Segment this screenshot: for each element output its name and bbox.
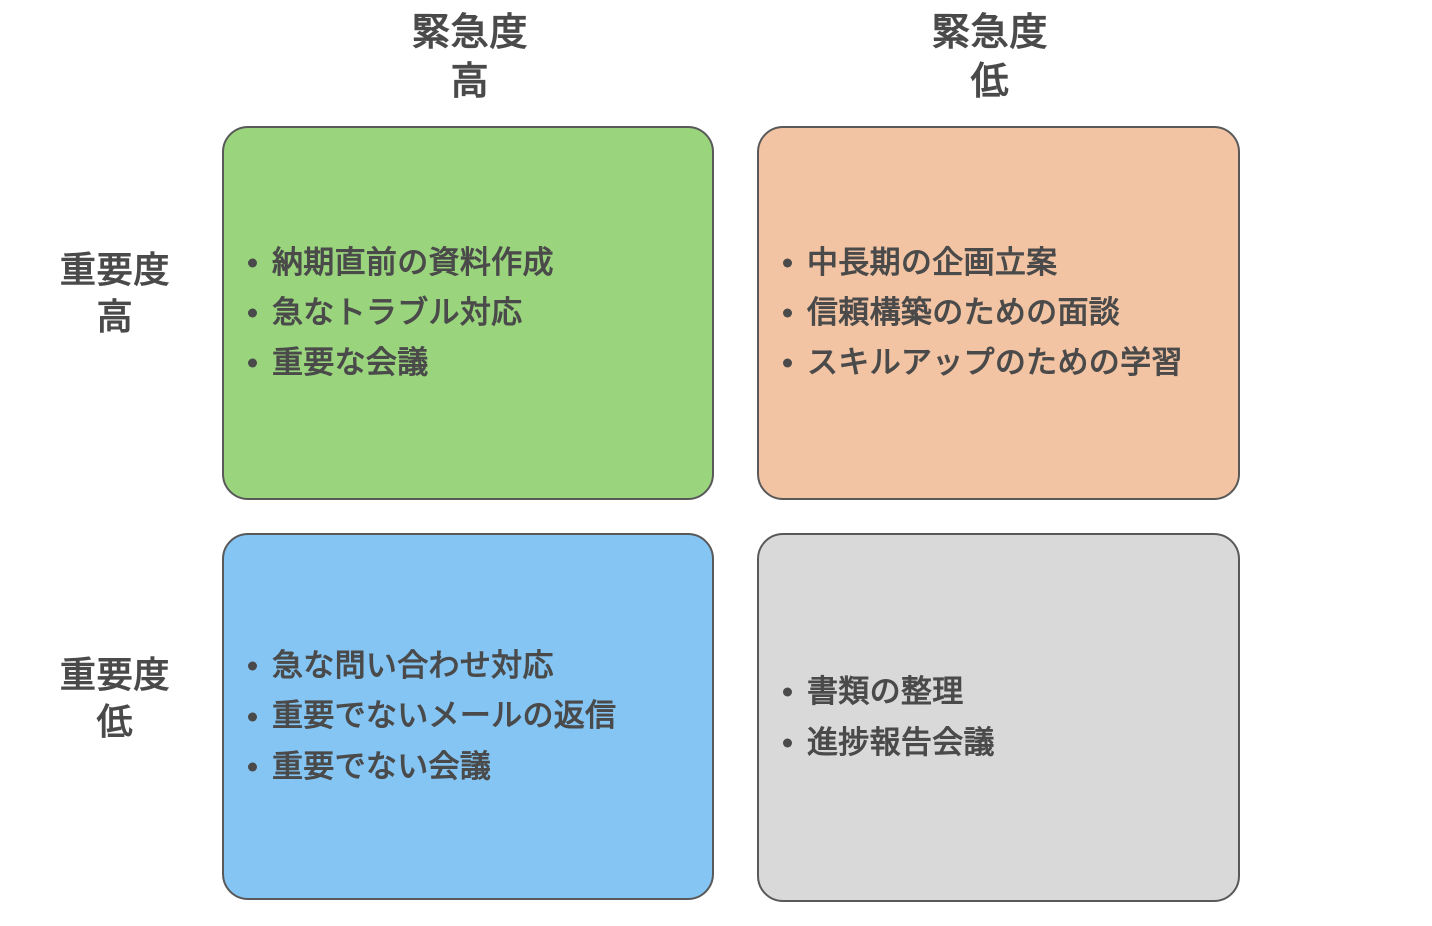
task-list-noturgent-notimportant: 書類の整理 進捗報告会議 (777, 667, 1224, 767)
quadrant-noturgent-important: 中長期の企画立案 信頼構築のための面談 スキルアップのための学習 (757, 126, 1240, 500)
list-item: 重要でない会議 (242, 742, 698, 792)
column-header-urgency-low-level: 低 (840, 57, 1140, 106)
column-header-urgency-high: 緊急度 高 (320, 8, 620, 105)
column-header-urgency-high-level: 高 (320, 57, 620, 106)
list-item: スキルアップのための学習 (777, 338, 1224, 388)
row-label-importance-high: 重要度 高 (20, 248, 210, 342)
list-item: 書類の整理 (777, 667, 1224, 717)
row-label-importance-low: 重要度 低 (20, 653, 210, 747)
column-header-urgency-low-name: 緊急度 (840, 8, 1140, 57)
task-list-urgent-notimportant: 急な問い合わせ対応 重要でないメールの返信 重要でない会議 (242, 641, 698, 792)
column-header-urgency-high-name: 緊急度 (320, 8, 620, 57)
column-header-urgency-low: 緊急度 低 (840, 8, 1140, 105)
row-label-importance-high-name: 重要度 (20, 248, 210, 295)
list-item: 納期直前の資料作成 (242, 238, 698, 288)
list-item: 重要でないメールの返信 (242, 691, 698, 741)
list-item: 信頼構築のための面談 (777, 288, 1224, 338)
quadrant-urgent-important: 納期直前の資料作成 急なトラブル対応 重要な会議 (222, 126, 714, 500)
list-item: 中長期の企画立案 (777, 238, 1224, 288)
row-label-importance-high-level: 高 (20, 295, 210, 342)
task-list-urgent-important: 納期直前の資料作成 急なトラブル対応 重要な会議 (242, 238, 698, 389)
list-item: 重要な会議 (242, 338, 698, 388)
quadrant-noturgent-notimportant: 書類の整理 進捗報告会議 (757, 533, 1240, 902)
priority-matrix: 緊急度 高 緊急度 低 重要度 高 重要度 低 納期直前の資料作成 急なトラブル… (0, 0, 1432, 926)
quadrant-urgent-notimportant: 急な問い合わせ対応 重要でないメールの返信 重要でない会議 (222, 533, 714, 900)
list-item: 進捗報告会議 (777, 718, 1224, 768)
task-list-noturgent-important: 中長期の企画立案 信頼構築のための面談 スキルアップのための学習 (777, 238, 1224, 389)
list-item: 急なトラブル対応 (242, 288, 698, 338)
list-item: 急な問い合わせ対応 (242, 641, 698, 691)
row-label-importance-low-name: 重要度 (20, 653, 210, 700)
row-label-importance-low-level: 低 (20, 700, 210, 747)
